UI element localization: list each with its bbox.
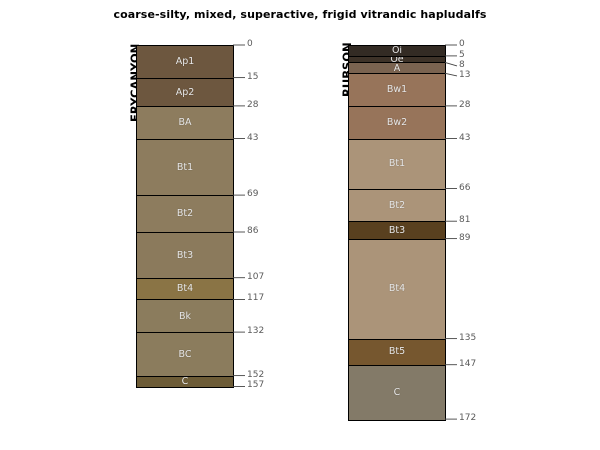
depth-axis [0, 0, 600, 450]
horizon-label: Ap1 [176, 57, 195, 67]
horizon-bc: BC [137, 333, 233, 377]
horizon-label: Bt2 [177, 209, 193, 219]
horizon-label: Bk [179, 312, 191, 322]
depth-tick-label: 66 [459, 184, 470, 193]
horizon-label: Bt1 [177, 163, 193, 173]
horizon-label: Bt2 [389, 201, 405, 211]
depth-tick-label: 15 [247, 73, 258, 82]
horizon-a: A [349, 63, 445, 74]
horizon-label: Bt3 [389, 226, 405, 236]
depth-tick-label: 152 [247, 371, 264, 380]
horizon-label: C [394, 388, 401, 398]
horizon-label: Ap2 [176, 88, 195, 98]
horizon-c: C [349, 366, 445, 420]
depth-tick-leader [445, 62, 457, 66]
horizon-ap2: Ap2 [137, 79, 233, 107]
horizon-label: A [394, 64, 401, 74]
depth-tick-label: 157 [247, 381, 264, 390]
horizon-label: Bt5 [389, 347, 405, 357]
horizon-label: Bt4 [389, 284, 405, 294]
horizon-bt1: Bt1 [137, 140, 233, 197]
horizon-bt3: Bt3 [137, 233, 233, 279]
depth-tick-label: 43 [459, 134, 470, 143]
horizon-bt2: Bt2 [137, 196, 233, 233]
depth-tick-label: 107 [247, 273, 264, 282]
horizon-bw2: Bw2 [349, 107, 445, 140]
horizon-label: Bt1 [389, 159, 405, 169]
horizon-label: C [182, 377, 189, 387]
depth-tick-label: 135 [459, 334, 476, 343]
soil-profile-plot: coarse-silty, mixed, superactive, frigid… [0, 0, 600, 450]
horizon-label: Oi [392, 46, 402, 56]
depth-tick-label: 0 [247, 40, 253, 49]
depth-tick-label: 86 [247, 227, 258, 236]
depth-tick-label: 5 [459, 51, 465, 60]
depth-tick-label: 172 [459, 414, 476, 423]
horizon-bw1: Bw1 [349, 74, 445, 107]
horizon-label: Bt3 [177, 251, 193, 261]
horizon-ap1: Ap1 [137, 46, 233, 79]
depth-tick-label: 28 [247, 101, 258, 110]
horizon-bt3: Bt3 [349, 222, 445, 239]
profile-column: OiOeABw1Bw2Bt1Bt2Bt3Bt4Bt5C [348, 45, 446, 421]
depth-tick-label: 117 [247, 294, 264, 303]
horizon-bk: Bk [137, 300, 233, 333]
depth-tick-label: 13 [459, 71, 470, 80]
depth-tick-label: 43 [247, 134, 258, 143]
horizon-bt1: Bt1 [349, 140, 445, 190]
horizon-label: Bw2 [387, 118, 407, 128]
horizon-bt4: Bt4 [349, 240, 445, 340]
profile-column: Ap1Ap2BABt1Bt2Bt3Bt4BkBCC [136, 45, 234, 388]
horizon-label: Bw1 [387, 85, 407, 95]
depth-tick-label: 132 [247, 327, 264, 336]
depth-tick-label: 89 [459, 234, 470, 243]
horizon-c: C [137, 377, 233, 388]
horizon-bt4: Bt4 [137, 279, 233, 301]
page-title: coarse-silty, mixed, superactive, frigid… [0, 8, 600, 21]
horizon-bt5: Bt5 [349, 340, 445, 366]
depth-tick-label: 147 [459, 360, 476, 369]
depth-tick-label: 81 [459, 216, 470, 225]
depth-tick-label: 28 [459, 101, 470, 110]
horizon-label: BA [178, 118, 191, 128]
depth-tick-label: 8 [459, 61, 465, 70]
depth-tick-label: 0 [459, 40, 465, 49]
depth-tick-leader [445, 73, 457, 76]
depth-axis [0, 0, 600, 450]
horizon-label: BC [179, 350, 192, 360]
horizon-ba: BA [137, 107, 233, 140]
depth-tick-label: 69 [247, 190, 258, 199]
horizon-bt2: Bt2 [349, 190, 445, 223]
horizon-oi: Oi [349, 46, 445, 57]
horizon-label: Bt4 [177, 284, 193, 294]
